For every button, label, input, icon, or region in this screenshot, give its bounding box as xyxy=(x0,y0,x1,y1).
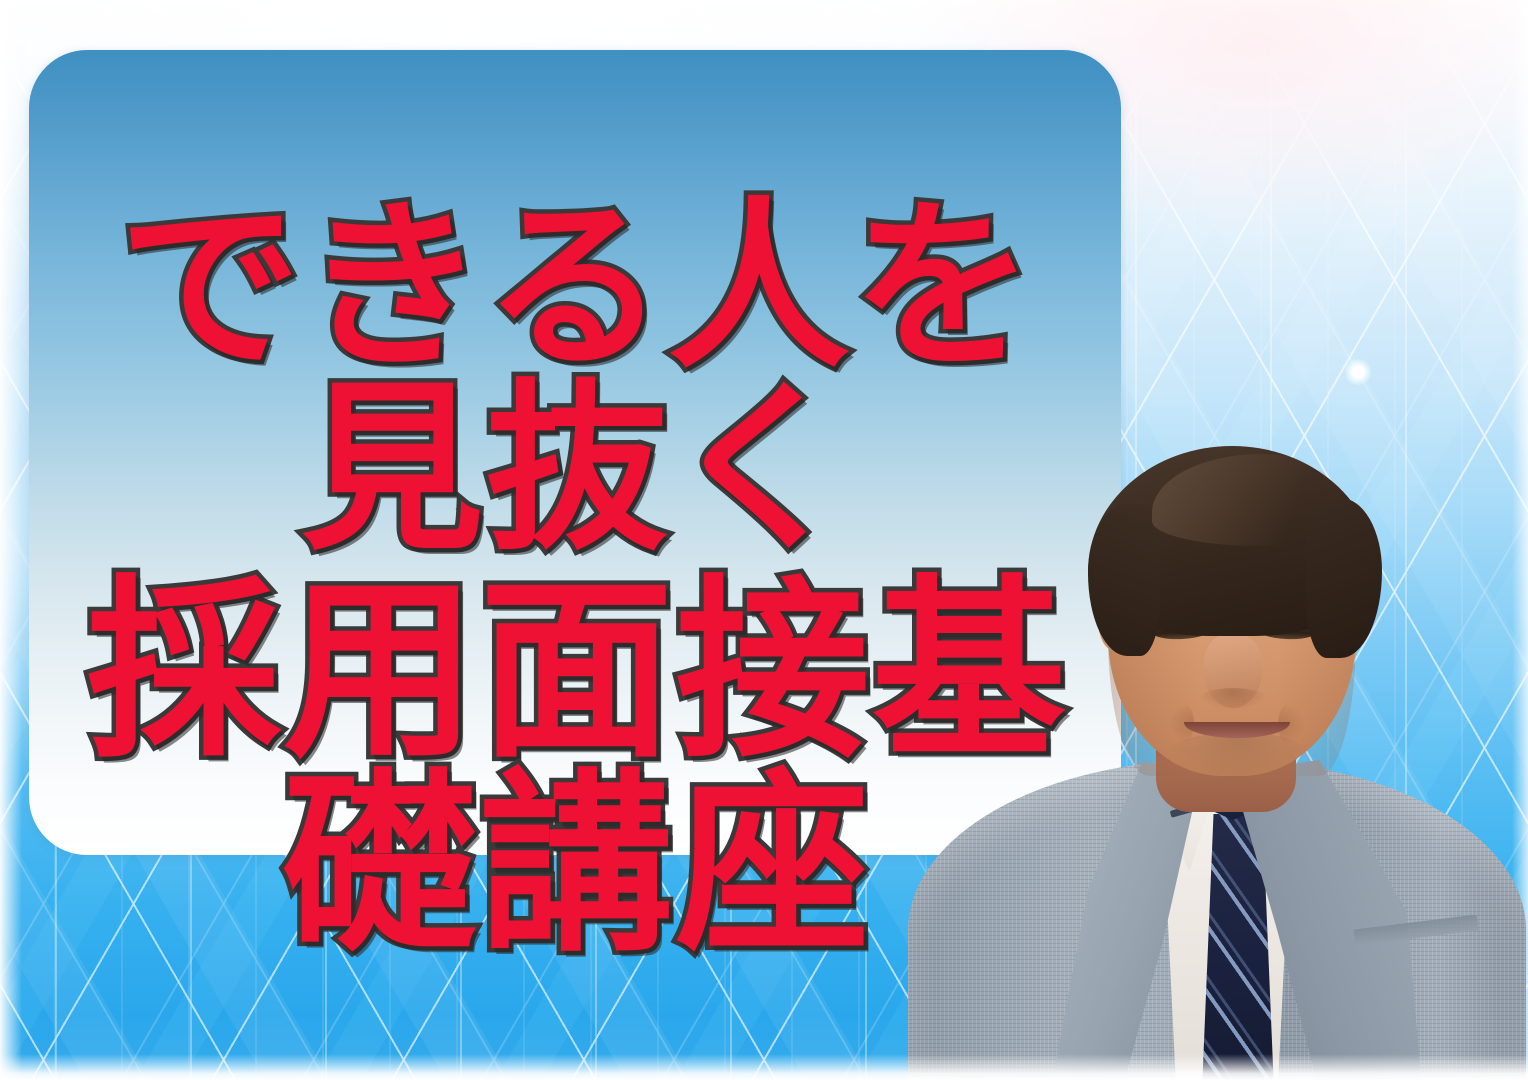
background-edge-fade-left xyxy=(0,0,22,1080)
presenter-portrait xyxy=(902,430,1528,1080)
slide-canvas: できる人を見抜く 採用面接基礎講座 xyxy=(0,0,1528,1080)
glow-node-icon xyxy=(1345,359,1371,385)
nose-shadow xyxy=(1198,688,1268,710)
background-edge-fade-bottom xyxy=(0,1054,1528,1080)
